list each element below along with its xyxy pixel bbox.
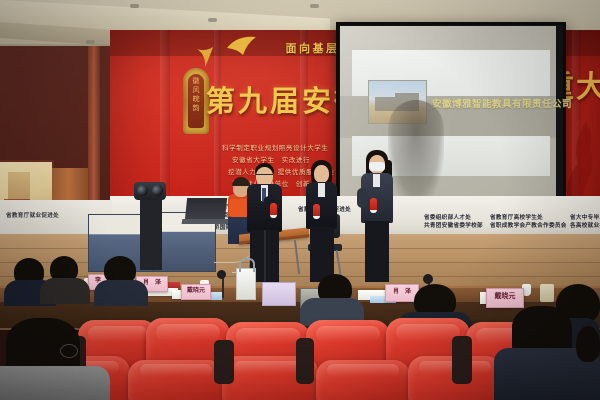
photo-canvas: 面向基层就业 徽风皖韵 第九届安徽省 重大 科学制定职业规划照亮设计大学生 安徽…: [0, 0, 600, 400]
vignette-overlay: [0, 0, 600, 400]
